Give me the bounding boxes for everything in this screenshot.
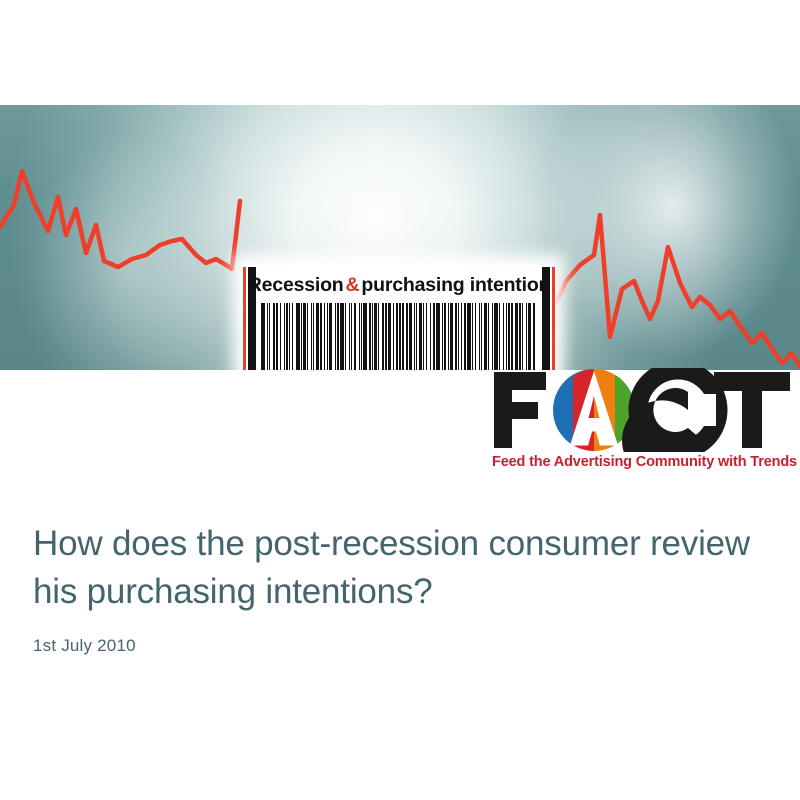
- fact-logo: Feed the Advertising Community with Tren…: [492, 368, 792, 480]
- barcode-edge-red-left: [243, 267, 246, 370]
- logo-letter-c-icon: [622, 370, 718, 452]
- fact-wordmark-icon: [492, 368, 792, 452]
- barcode-title-prefix: Recession: [248, 274, 344, 297]
- barcode-edge-red-right: [552, 267, 555, 370]
- hero-banner: Recession & purchasing intention: [0, 105, 800, 370]
- barcode-gap: [535, 303, 536, 370]
- barcode-icon: Recession & purchasing intention: [243, 265, 555, 370]
- barcode-title-ampersand: &: [344, 274, 362, 297]
- logo-letter-f-icon: [494, 372, 546, 448]
- page-title: How does the post-recession consumer rev…: [33, 520, 763, 616]
- barcode-title-suffix: purchasing intention: [361, 274, 550, 297]
- barcode-bars: [261, 303, 537, 370]
- barcode-title-label: Recession & purchasing intention: [261, 271, 537, 299]
- title-block: How does the post-recession consumer rev…: [33, 520, 763, 656]
- fact-tagline: Feed the Advertising Community with Tren…: [492, 454, 792, 470]
- page-date: 1st July 2010: [33, 636, 763, 656]
